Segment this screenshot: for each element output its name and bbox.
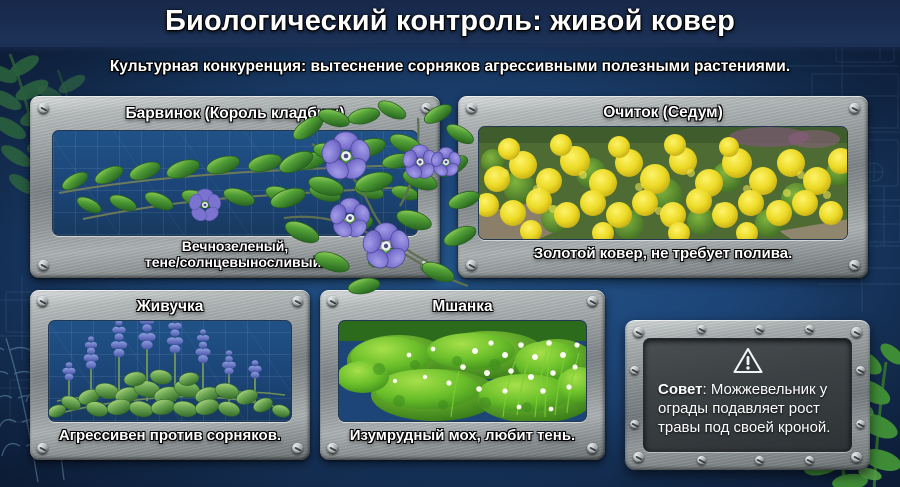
screw-icon [849, 260, 860, 271]
screw-icon [421, 260, 432, 271]
panel-vinca-caption: Вечнозеленый, тене/солнцевыносливый. [30, 239, 440, 270]
screw-icon [587, 296, 598, 307]
sedum-photo [479, 127, 847, 239]
caption-line-1: Вечнозеленый, [182, 238, 288, 254]
panel-sedum-caption: Золотой ковер, не требует полива. [458, 246, 868, 263]
tip-screen: Совет: Можжевельник у ограды подавляет р… [643, 338, 852, 452]
warning-triangle-icon [733, 347, 763, 374]
tip-box[interactable]: Совет: Можжевельник у ограды подавляет р… [625, 320, 870, 470]
screw-icon [38, 103, 49, 114]
screw-icon [292, 443, 303, 454]
panel-sedum[interactable]: Очиток (Седум) Золотой ковер, не требует… [458, 96, 868, 278]
panel-ajuga-image [48, 320, 292, 422]
screw-icon [805, 456, 814, 465]
screw-icon [630, 366, 639, 375]
screw-icon [292, 296, 303, 307]
screw-icon [466, 260, 477, 271]
infographic-canvas: Биологический контроль: живой ковер Куль… [0, 0, 900, 487]
screw-icon [755, 456, 764, 465]
page-title: Биологический контроль: живой ковер [0, 5, 900, 38]
panel-ajuga-caption: Агрессивен против сорняков. [30, 428, 310, 445]
moss-photo [339, 321, 586, 421]
panel-vinca[interactable]: Барвинок (Король кладбищ) Вечнозеленый, … [30, 96, 440, 278]
screw-icon [38, 260, 49, 271]
screw-icon [849, 103, 860, 114]
panel-sagina-image [338, 320, 587, 422]
panel-sedum-title: Очиток (Седум) [458, 104, 868, 122]
panel-ajuga[interactable]: Живучка Агрессивен против сорняков. [30, 290, 310, 460]
panel-ajuga-title: Живучка [30, 298, 310, 316]
screw-icon [587, 443, 598, 454]
panel-sedum-image [478, 126, 848, 240]
screw-icon [856, 420, 865, 429]
panel-sagina-title: Мшанка [320, 298, 605, 316]
screw-icon [851, 452, 862, 463]
screw-icon [421, 103, 432, 114]
caption-line-2: тене/солнцевыносливый. [145, 254, 325, 270]
screw-icon [697, 456, 706, 465]
screw-icon [327, 296, 338, 307]
screw-icon [633, 327, 644, 338]
screw-icon [630, 420, 639, 429]
screw-icon [466, 103, 477, 114]
screw-icon [856, 366, 865, 375]
tip-text: Совет: Можжевельник у ограды подавляет р… [658, 381, 841, 438]
screw-icon [633, 452, 644, 463]
screw-icon [37, 443, 48, 454]
panel-sagina[interactable]: Мшанка Изумрудный мох, любит тень. [320, 290, 605, 460]
screw-icon [37, 296, 48, 307]
screw-icon [697, 325, 706, 334]
screw-icon [755, 325, 764, 334]
panel-vinca-title: Барвинок (Король кладбищ) [30, 105, 440, 123]
screw-icon [805, 325, 814, 334]
screw-icon [851, 327, 862, 338]
panel-vinca-image [52, 130, 418, 236]
tip-label: Совет [658, 381, 703, 398]
page-subtitle: Культурная конкуренция: вытеснение сорня… [0, 58, 900, 76]
panel-sagina-caption: Изумрудный мох, любит тень. [320, 428, 605, 445]
screw-icon [327, 443, 338, 454]
